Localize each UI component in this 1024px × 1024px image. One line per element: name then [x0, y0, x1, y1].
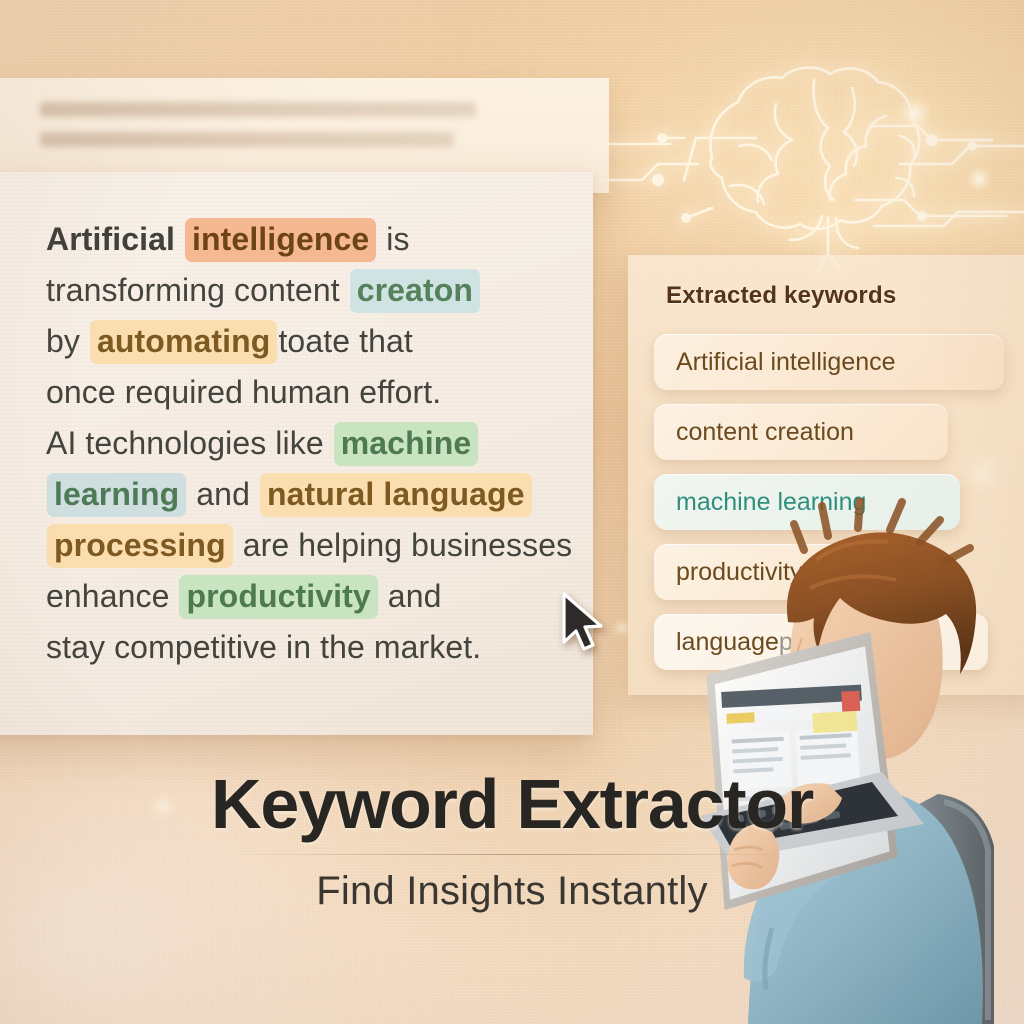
poster-canvas: Where blurred words preflation figures i… — [0, 0, 1024, 1024]
vignette-overlay — [0, 0, 1024, 1024]
